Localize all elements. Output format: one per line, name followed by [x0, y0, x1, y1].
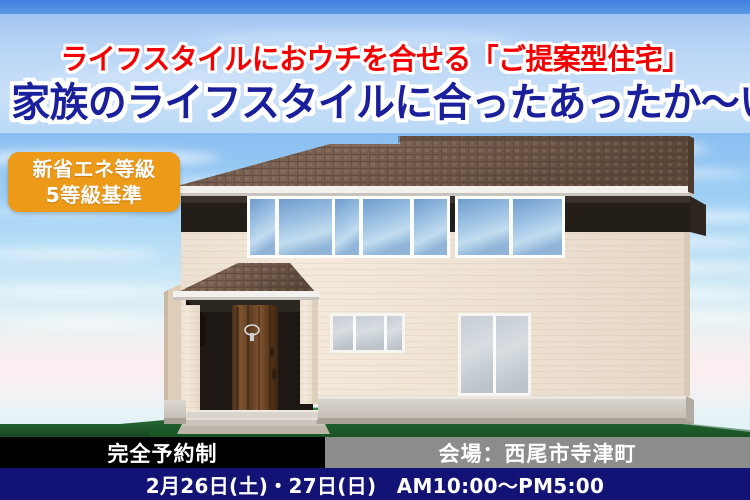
- energy-grade-badge: 新省エネ等級 5等級基準: [8, 152, 180, 212]
- badge-line-2: 5等級基準: [46, 182, 142, 208]
- house-photo: [0, 0, 750, 500]
- lower-window-small: [330, 313, 405, 353]
- upper-window-left: [247, 196, 342, 258]
- entrance-door: [232, 305, 278, 412]
- event-poster: ライフスタイルにおウチを合せる「ご提案型住宅」 家族のライフスタイルに合ったあっ…: [0, 0, 750, 500]
- upper-window-right: [455, 196, 565, 258]
- reservation-label: 完全予約制: [108, 438, 218, 468]
- venue-bar: 会場：西尾市寺津町: [325, 437, 750, 468]
- venue-label: 会場：西尾市寺津町: [439, 438, 637, 468]
- reservation-bar: 完全予約制: [0, 437, 325, 468]
- lower-window-large: [458, 313, 531, 396]
- upper-window-middle: [332, 196, 450, 258]
- schedule-label: 2月26日(土)・27日(日) AM10:00〜PM5:00: [146, 470, 605, 499]
- schedule-bar: 2月26日(土)・27日(日) AM10:00〜PM5:00: [0, 468, 750, 500]
- badge-line-1: 新省エネ等級: [33, 156, 156, 182]
